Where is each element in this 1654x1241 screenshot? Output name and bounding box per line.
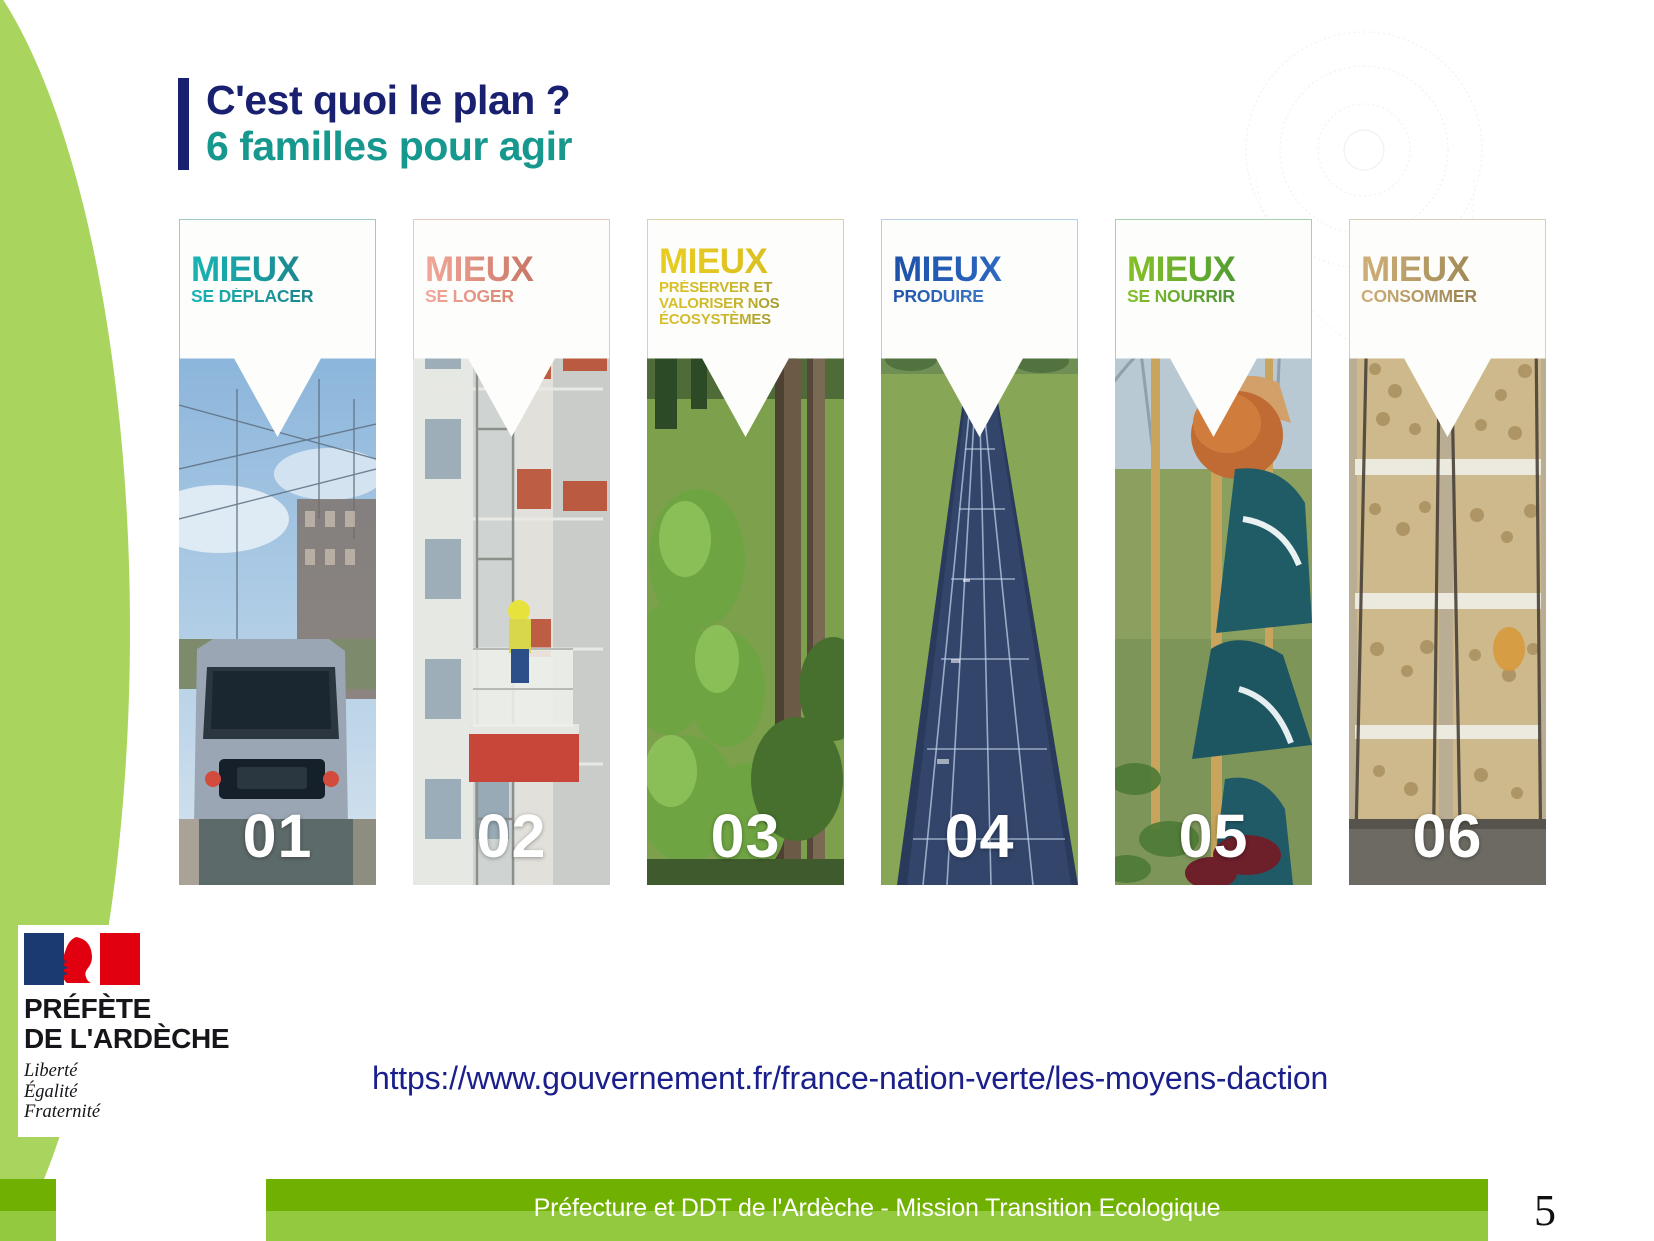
card-number-04: 04 bbox=[881, 801, 1078, 871]
motto-fraternite: Fraternité bbox=[24, 1102, 292, 1123]
title-line-1: C'est quoi le plan ? bbox=[206, 78, 572, 124]
gouvernement-url-link[interactable]: https://www.gouvernement.fr/france-natio… bbox=[372, 1060, 1328, 1097]
flag-white-band bbox=[64, 933, 100, 985]
page-number-box: 5 bbox=[1488, 1179, 1654, 1241]
card-heading-03: MIEUX bbox=[659, 246, 832, 278]
card-subheading-02: SE LOGER bbox=[425, 288, 598, 306]
title-accent-bar bbox=[178, 78, 189, 170]
card-subheading-01: SE DÉPLACER bbox=[191, 288, 364, 306]
family-cards-row: MIEUX SE DÉPLACER 01 bbox=[179, 219, 1475, 885]
french-republic-flag-icon bbox=[24, 933, 140, 985]
family-card-03[interactable]: MIEUX PRÉSERVER ET VALORISER NOS ÉCOSYST… bbox=[647, 219, 844, 885]
card-number-03: 03 bbox=[647, 801, 844, 871]
slide-canvas: C'est quoi le plan ? 6 familles pour agi… bbox=[0, 0, 1654, 1241]
family-card-06[interactable]: MIEUX CONSOMMER 06 bbox=[1349, 219, 1546, 885]
card-number-02: 02 bbox=[413, 801, 610, 871]
footer-bar: Préfecture et DDT de l'Ardèche - Mission… bbox=[266, 1179, 1488, 1241]
page-title: C'est quoi le plan ? 6 familles pour agi… bbox=[178, 78, 572, 170]
card-number-06: 06 bbox=[1349, 801, 1546, 871]
marianne-profile-icon bbox=[64, 935, 100, 983]
flag-blue-band bbox=[24, 933, 64, 985]
family-card-04[interactable]: MIEUX PRODUIRE 04 bbox=[881, 219, 1078, 885]
card-subheading-05: SE NOURRIR bbox=[1127, 288, 1300, 306]
flag-red-band bbox=[100, 933, 140, 985]
family-card-01[interactable]: MIEUX SE DÉPLACER 01 bbox=[179, 219, 376, 885]
family-card-05[interactable]: MIEUX SE NOURRIR 05 bbox=[1115, 219, 1312, 885]
card-number-01: 01 bbox=[179, 801, 376, 871]
motto-liberte: Liberté bbox=[24, 1061, 292, 1082]
card-subheading-04: PRODUIRE bbox=[893, 288, 1066, 306]
card-heading-02: MIEUX bbox=[425, 254, 598, 286]
title-line-2: 6 familles pour agir bbox=[206, 124, 572, 170]
footer-text: Préfecture et DDT de l'Ardèche - Mission… bbox=[534, 1194, 1221, 1223]
page-number-value: 5 bbox=[1534, 1185, 1556, 1236]
card-heading-06: MIEUX bbox=[1361, 254, 1534, 286]
card-heading-05: MIEUX bbox=[1127, 254, 1300, 286]
card-subheading-03: PRÉSERVER ET VALORISER NOS ÉCOSYSTÈMES bbox=[659, 280, 832, 327]
card-subheading-06: CONSOMMER bbox=[1361, 288, 1534, 306]
family-card-02[interactable]: MIEUX SE LOGER 02 bbox=[413, 219, 610, 885]
prefecture-logo-block: PRÉFÈTE DE L'ARDÈCHE Liberté Égalité Fra… bbox=[18, 925, 298, 1137]
footer-left-green-stub bbox=[0, 1179, 56, 1241]
motto-egalite: Égalité bbox=[24, 1082, 292, 1103]
logo-title-line-1: PRÉFÈTE bbox=[24, 994, 292, 1024]
card-number-05: 05 bbox=[1115, 801, 1312, 871]
card-heading-04: MIEUX bbox=[893, 254, 1066, 286]
logo-title-line-2: DE L'ARDÈCHE bbox=[24, 1024, 292, 1054]
card-heading-01: MIEUX bbox=[191, 254, 364, 286]
